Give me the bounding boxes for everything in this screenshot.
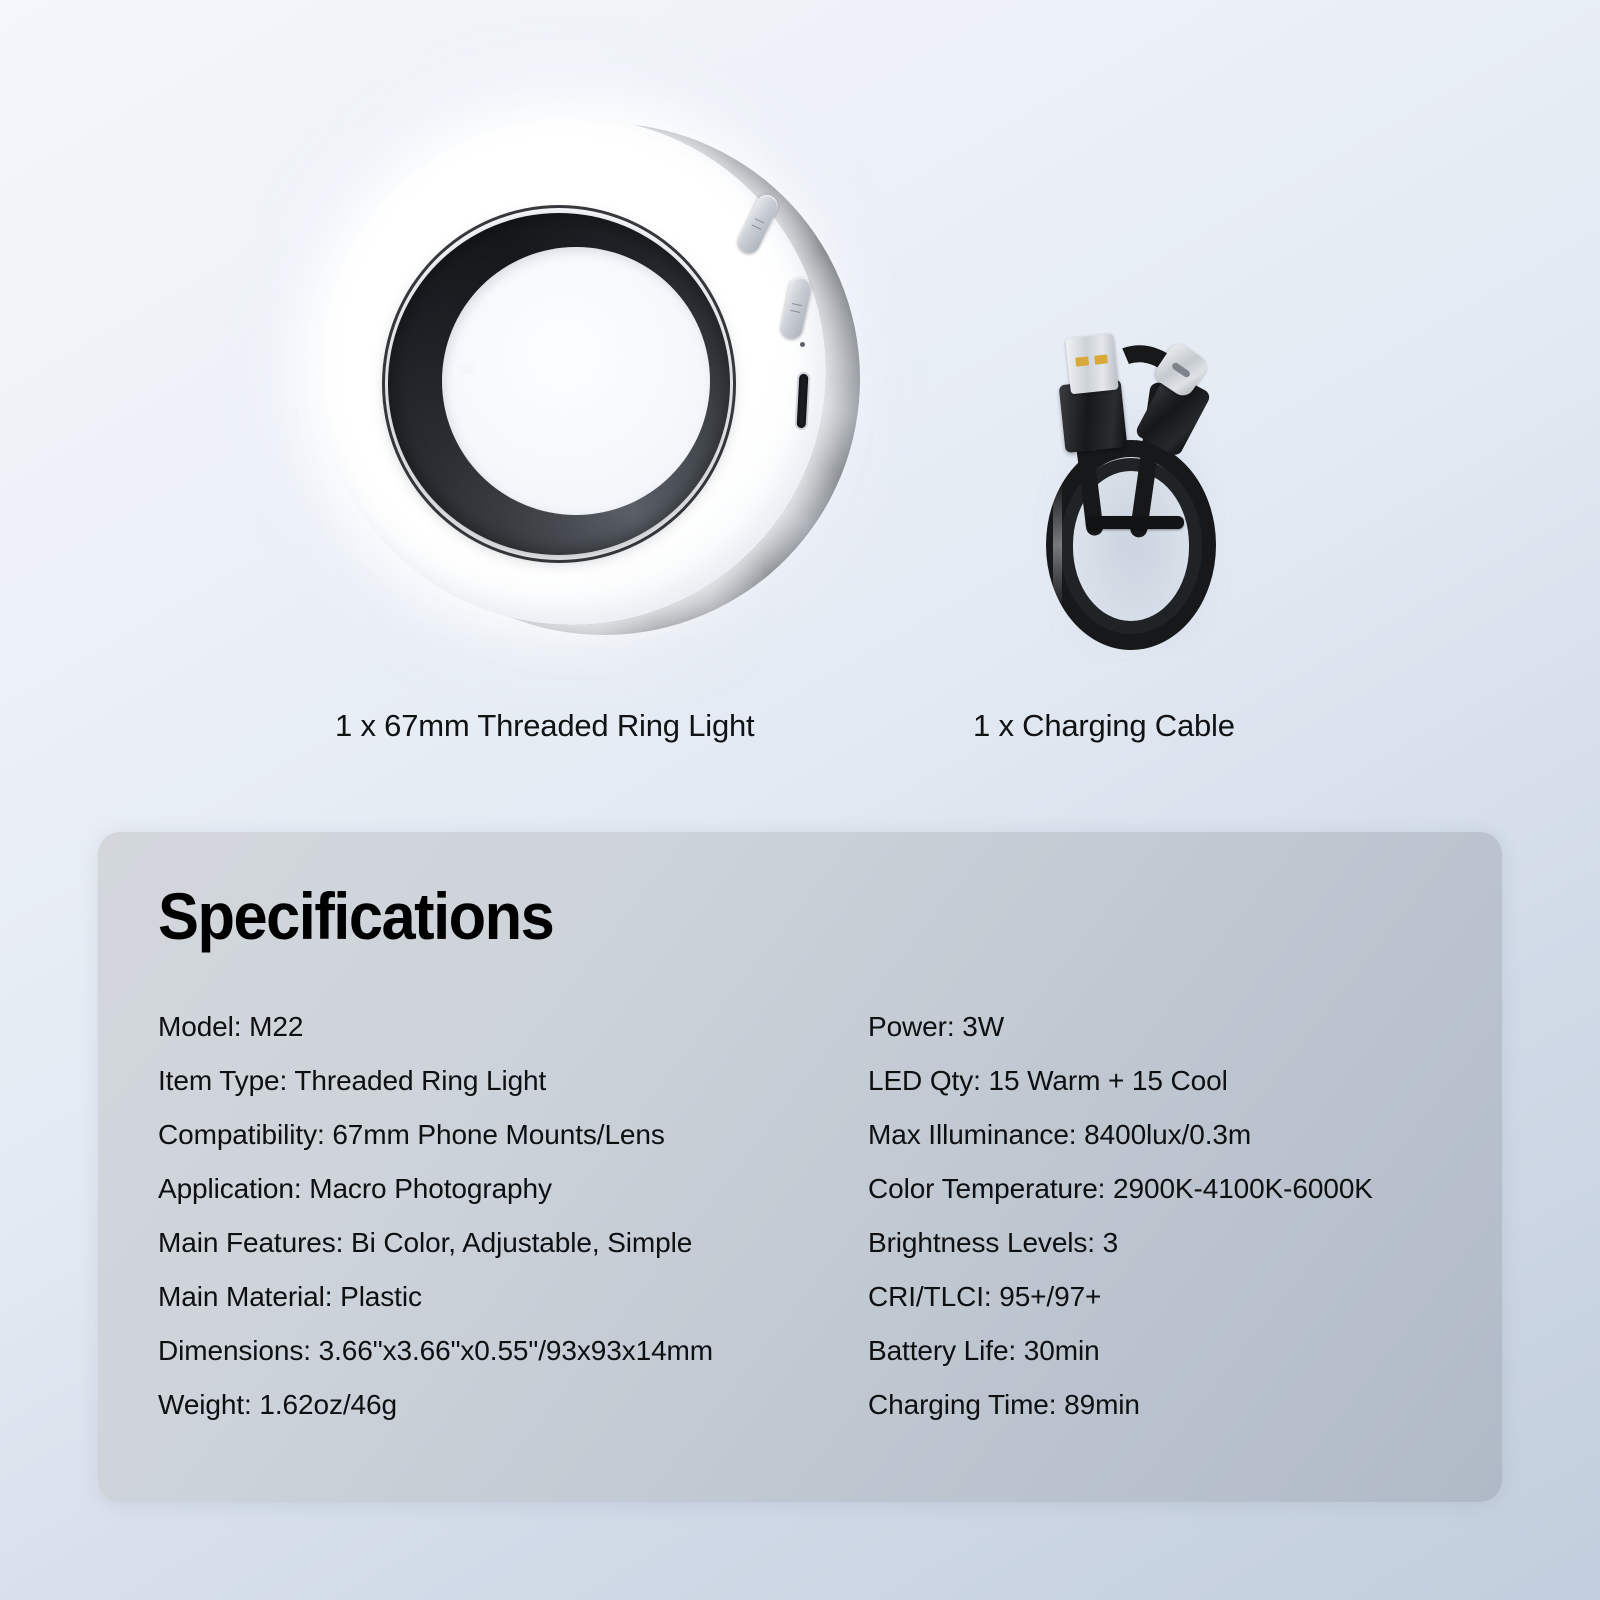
spec-row: LED Qty: 15 Warm + 15 Cool bbox=[868, 1054, 1508, 1108]
spec-row: Model: M22 bbox=[158, 1000, 858, 1054]
specifications-left-column: Model: M22 Item Type: Threaded Ring Ligh… bbox=[158, 1000, 858, 1432]
usb-a-pin-left bbox=[1075, 356, 1089, 366]
spec-row: Application: Macro Photography bbox=[158, 1162, 858, 1216]
caption-charging-cable: 1 x Charging Cable bbox=[973, 708, 1235, 744]
ring-light-image bbox=[300, 95, 880, 675]
ring-light-lens-opening bbox=[442, 247, 710, 515]
spec-row: Main Material: Plastic bbox=[158, 1270, 858, 1324]
cable-highlight bbox=[1053, 480, 1062, 610]
spec-row: Color Temperature: 2900K-4100K-6000K bbox=[868, 1162, 1508, 1216]
spec-row: Weight: 1.62oz/46g bbox=[158, 1378, 858, 1432]
ring-light-notch bbox=[460, 365, 473, 374]
ring-light-indicator-led bbox=[800, 342, 805, 347]
usb-a-pin-right bbox=[1094, 354, 1108, 364]
spec-row: Battery Life: 30min bbox=[868, 1324, 1508, 1378]
caption-ring-light: 1 x 67mm Threaded Ring Light bbox=[335, 708, 754, 744]
spec-row: Charging Time: 89min bbox=[868, 1378, 1508, 1432]
power-button-glyph-icon bbox=[752, 218, 764, 230]
cable-tie-strap bbox=[1086, 516, 1184, 529]
specifications-right-column: Power: 3W LED Qty: 15 Warm + 15 Cool Max… bbox=[868, 1000, 1508, 1432]
ring-light-inner-bezel bbox=[388, 213, 730, 555]
spec-row: Max Illuminance: 8400lux/0.3m bbox=[868, 1108, 1508, 1162]
usb-a-connector-icon bbox=[1065, 334, 1119, 395]
spec-row: Dimensions: 3.66"x3.66"x0.55"/93x93x14mm bbox=[158, 1324, 858, 1378]
spec-row: Compatibility: 67mm Phone Mounts/Lens bbox=[158, 1108, 858, 1162]
spec-row: Item Type: Threaded Ring Light bbox=[158, 1054, 858, 1108]
spec-row: Brightness Levels: 3 bbox=[868, 1216, 1508, 1270]
spec-row: CRI/TLCI: 95+/97+ bbox=[868, 1270, 1508, 1324]
charging-cable-image bbox=[1020, 330, 1250, 660]
spec-row: Main Features: Bi Color, Adjustable, Sim… bbox=[158, 1216, 858, 1270]
product-showcase: 1 x 67mm Threaded Ring Light 1 x Chargin… bbox=[0, 0, 1600, 800]
mode-button-glyph-icon bbox=[790, 303, 801, 313]
spec-row: Power: 3W bbox=[868, 1000, 1508, 1054]
specifications-title: Specifications bbox=[158, 878, 553, 954]
usb-c-slot bbox=[1171, 362, 1191, 379]
